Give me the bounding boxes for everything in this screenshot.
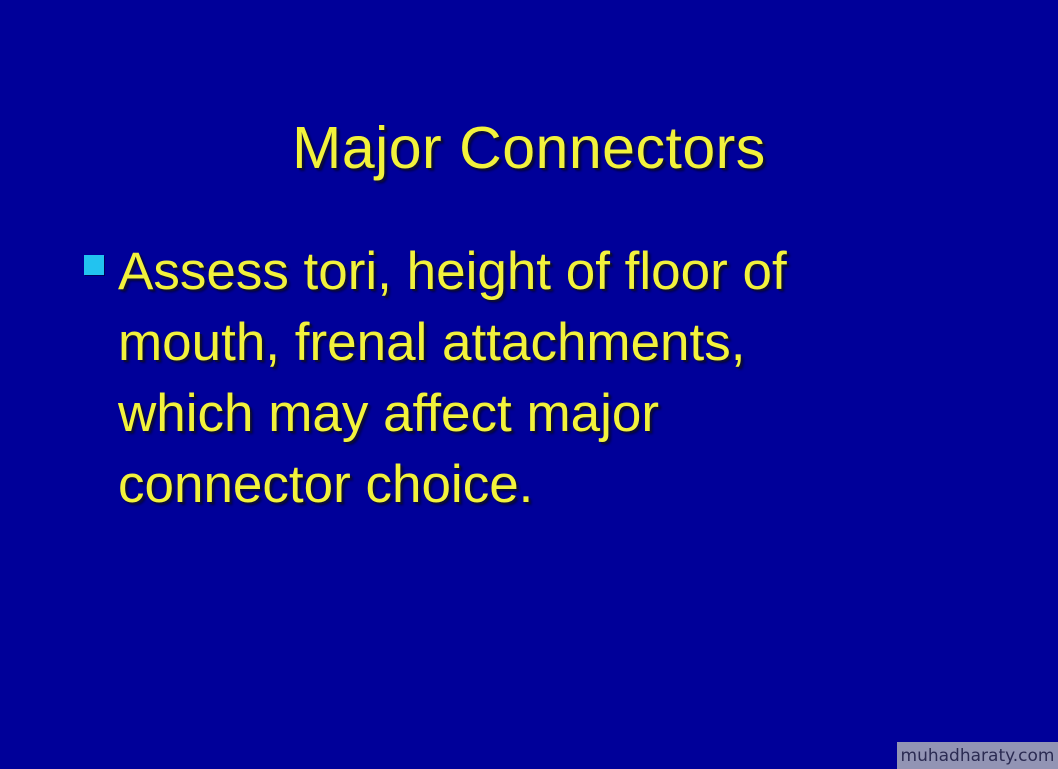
bullet-line: which may affect major xyxy=(118,378,978,449)
slide-body: Assess tori, height of floor of mouth, f… xyxy=(78,236,978,520)
list-item: Assess tori, height of floor of mouth, f… xyxy=(78,236,978,520)
page-title: Major Connectors xyxy=(0,118,1058,180)
watermark-text: muhadharaty.com xyxy=(901,746,1055,766)
bullet-text: Assess tori, height of floor of mouth, f… xyxy=(118,236,978,520)
bullet-line: connector choice. xyxy=(118,449,978,520)
square-bullet-icon xyxy=(84,255,104,275)
bullet-line: Assess tori, height of floor of xyxy=(118,236,978,307)
bullet-line: mouth, frenal attachments, xyxy=(118,307,978,378)
watermark-badge: muhadharaty.com xyxy=(897,742,1058,769)
presentation-slide: Major Connectors Assess tori, height of … xyxy=(0,0,1058,769)
